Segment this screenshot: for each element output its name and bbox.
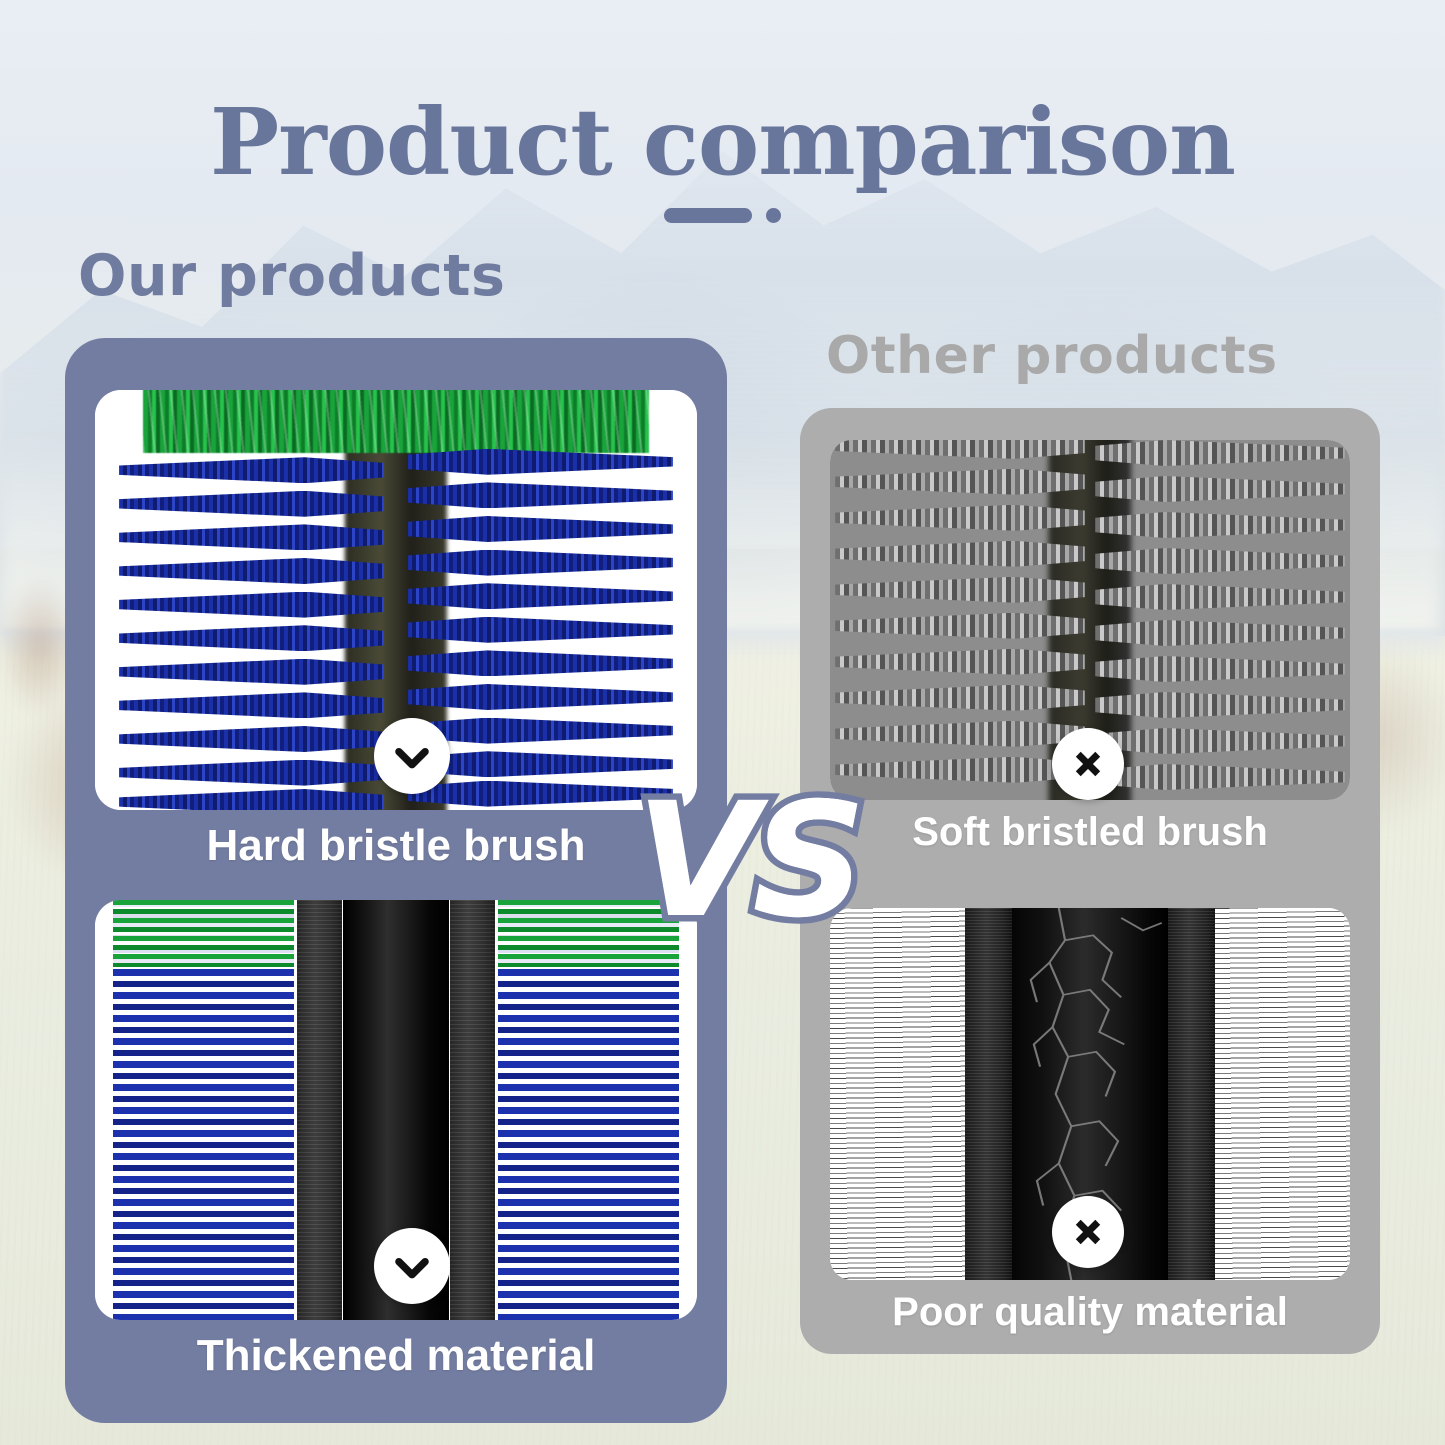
bristle-tuft: [835, 577, 1085, 603]
bristle-tuft: [119, 726, 384, 752]
thin-wire-bristles-right: [1215, 908, 1350, 1280]
bristle-tuft: [119, 692, 384, 718]
divider-dash: [664, 208, 752, 223]
versus-label: VS: [636, 766, 856, 956]
x-icon: [1052, 728, 1124, 800]
page-title: Product comparison: [0, 96, 1445, 188]
bristle-tuft: [119, 789, 384, 810]
rubber-rail-left: [297, 900, 343, 1320]
bristle-tuft: [408, 684, 673, 710]
bristle-tuft: [408, 781, 673, 807]
brush-green-bristles: [143, 390, 649, 453]
x-icon: [1052, 1196, 1124, 1268]
bristle-tuft: [408, 718, 673, 744]
bristle-tuft: [1095, 656, 1345, 682]
bristle-tuft: [119, 592, 384, 618]
rubber-rail-right: [1168, 908, 1215, 1280]
bristle-tuft: [1095, 512, 1345, 538]
rubber-rail-left: [965, 908, 1012, 1280]
bristle-tuft: [408, 583, 673, 609]
bristle-tuft: [835, 685, 1085, 711]
bristle-tuft: [408, 650, 673, 676]
thin-wire-bristles-left: [830, 908, 965, 1280]
other-product-caption-1: Soft bristled brush: [800, 810, 1380, 855]
our-product-caption-1: Hard bristle brush: [65, 821, 727, 871]
bristle-tuft: [119, 457, 384, 483]
bristle-tuft: [1095, 620, 1345, 646]
bristle-tuft: [1095, 476, 1345, 502]
bristle-tuft: [119, 625, 384, 651]
bristle-tuft: [119, 760, 384, 786]
bristle-tuft: [835, 541, 1085, 567]
bristle-tuft: [1095, 584, 1345, 610]
bristle-tuft: [1095, 548, 1345, 574]
bristle-tuft: [408, 516, 673, 542]
bristle-tuft: [408, 482, 673, 508]
bristle-tuft: [119, 659, 384, 685]
bristle-tuft: [408, 617, 673, 643]
other-product-caption-2: Poor quality material: [800, 1290, 1380, 1335]
bristle-tuft: [835, 440, 1085, 459]
title-divider: [0, 208, 1445, 223]
bristle-tuft: [1095, 764, 1345, 790]
bristle-tuft: [1095, 692, 1345, 718]
infographic-canvas: Product comparison Our products Other pr…: [0, 0, 1445, 1445]
bristle-tuft: [835, 505, 1085, 531]
bristle-tuft: [119, 524, 384, 550]
bristle-tuft: [835, 613, 1085, 639]
bristle-tuft: [835, 721, 1085, 747]
our-product-caption-2: Thickened material: [65, 1331, 727, 1381]
rubber-rail-right: [450, 900, 496, 1320]
divider-dot: [766, 208, 781, 223]
other-products-heading: Other products: [826, 326, 1278, 386]
bristle-tuft: [408, 550, 673, 576]
bristle-tuft: [119, 491, 384, 517]
check-icon: [374, 718, 450, 794]
bristle-tuft: [835, 757, 1085, 783]
bristle-tuft: [835, 469, 1085, 495]
bristle-tuft: [1095, 728, 1345, 754]
green-bristles-left: [113, 900, 294, 967]
our-products-heading: Our products: [78, 243, 505, 309]
check-icon: [374, 1228, 450, 1304]
bristle-tuft: [119, 558, 384, 584]
bristle-tuft: [835, 649, 1085, 675]
bristle-tuft: [1095, 440, 1345, 466]
